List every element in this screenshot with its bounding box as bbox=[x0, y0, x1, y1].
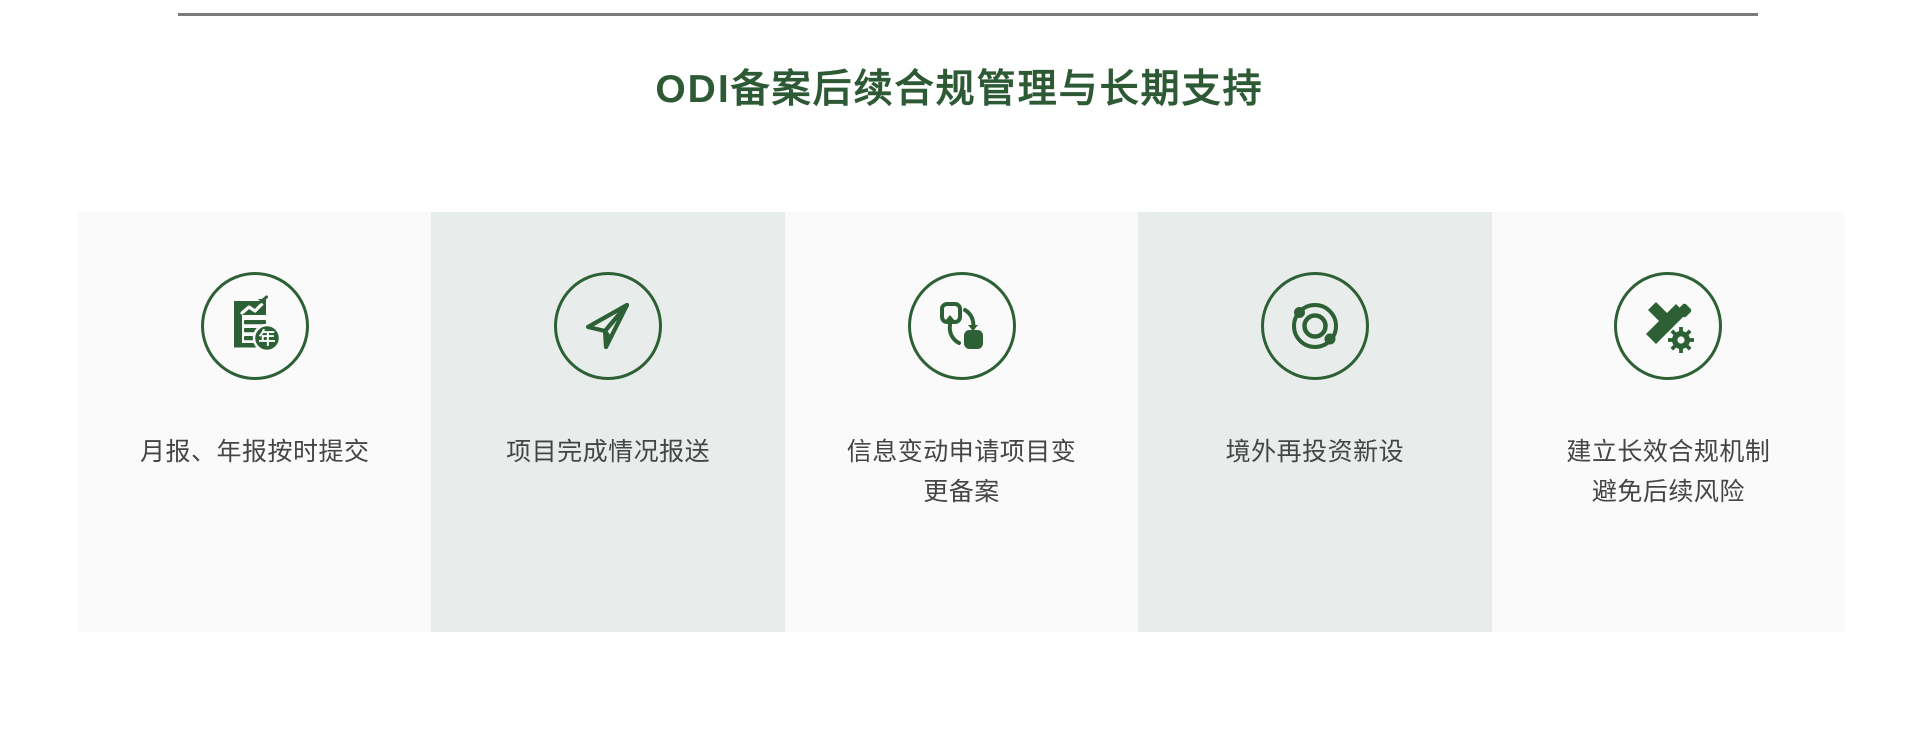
feature-card-1[interactable]: 年 月报、年报按时提交 bbox=[78, 212, 431, 632]
page-title: ODI备案后续合规管理与长期支持 bbox=[0, 66, 1919, 114]
icon-badge-text: 年 bbox=[258, 328, 275, 348]
feature-card-label: 信息变动申请项目变 更备案 bbox=[810, 432, 1114, 512]
feature-card-3[interactable]: 信息变动申请项目变 更备案 bbox=[785, 212, 1138, 632]
top-divider bbox=[178, 13, 1758, 16]
paper-plane-send-icon bbox=[554, 272, 662, 380]
orbit-target-icon bbox=[1261, 272, 1369, 380]
page-root: ODI备案后续合规管理与长期支持 bbox=[0, 0, 1919, 735]
feature-card-label: 项目完成情况报送 bbox=[456, 432, 760, 472]
feature-card-2[interactable]: 项目完成情况报送 bbox=[431, 212, 784, 632]
feature-card-5[interactable]: 建立长效合规机制 避免后续风险 bbox=[1492, 212, 1845, 632]
report-document-chart-icon: 年 bbox=[201, 272, 309, 380]
sync-change-icon bbox=[908, 272, 1016, 380]
feature-card-row: 年 月报、年报按时提交 项目完成情况报送 bbox=[78, 212, 1845, 632]
feature-card-4[interactable]: 境外再投资新设 bbox=[1138, 212, 1491, 632]
magic-wand-gear-icon bbox=[1614, 272, 1722, 380]
feature-card-label: 月报、年报按时提交 bbox=[103, 432, 407, 472]
feature-card-label: 建立长效合规机制 避免后续风险 bbox=[1516, 432, 1820, 512]
feature-card-label: 境外再投资新设 bbox=[1163, 432, 1467, 472]
